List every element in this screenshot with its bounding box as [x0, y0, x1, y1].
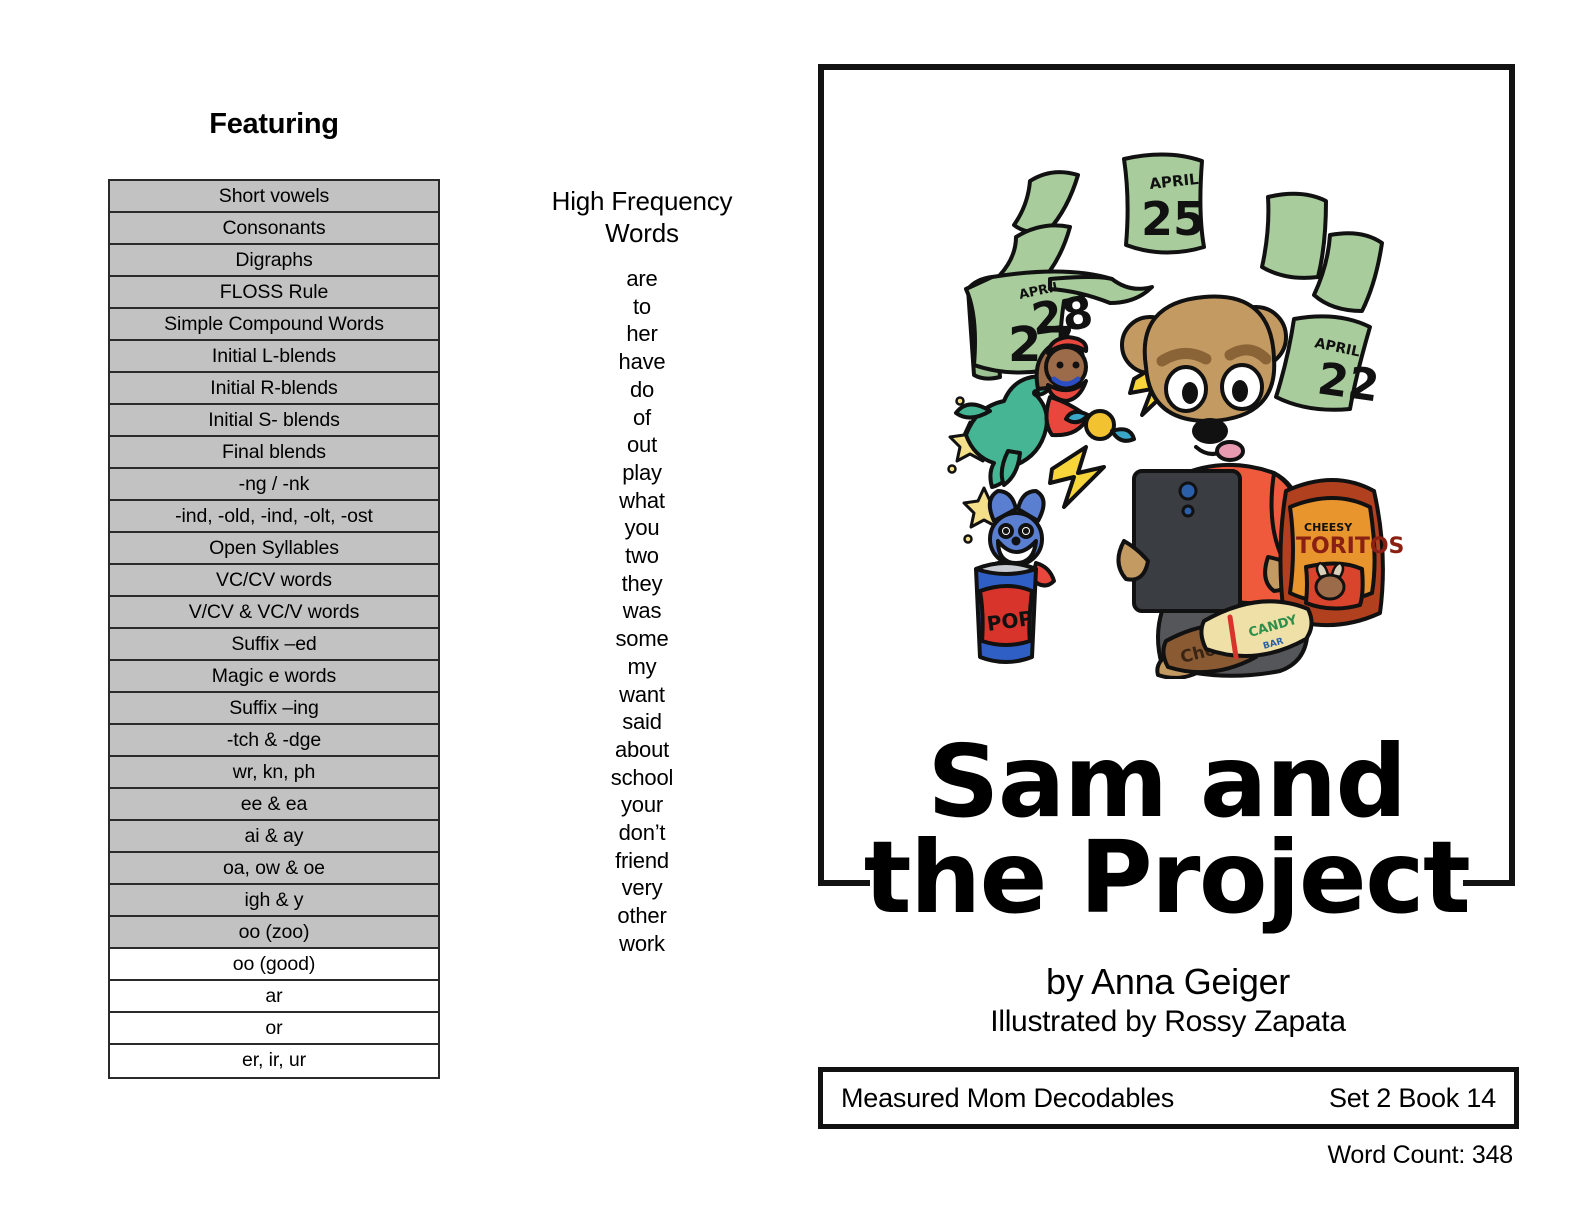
svg-text:25: 25	[1141, 192, 1205, 246]
hfw-item: said	[522, 708, 762, 736]
author-name: by Anna Geiger	[818, 960, 1518, 1003]
series-name: Measured Mom Decodables	[841, 1083, 1174, 1114]
series-number: Set 2 Book 14	[1329, 1083, 1496, 1114]
cover-title: Sam and the Project	[796, 734, 1537, 926]
skill-row: -ng / -nk	[110, 469, 438, 501]
skill-row: oo (good)	[110, 949, 438, 981]
skill-row: -tch & -dge	[110, 725, 438, 757]
hfw-item: of	[522, 404, 762, 432]
skill-row: ee & ea	[110, 789, 438, 821]
dragon-character	[956, 377, 1052, 487]
hfw-item: don’t	[522, 819, 762, 847]
series-info-box: Measured Mom Decodables Set 2 Book 14	[818, 1067, 1519, 1129]
chips-bag: CHEESY TORITOS	[1280, 480, 1404, 625]
hfw-item: have	[522, 348, 762, 376]
skill-row: oo (zoo)	[110, 917, 438, 949]
featuring-heading: Featuring	[108, 108, 440, 141]
hfw-item: out	[522, 431, 762, 459]
hfw-item: about	[522, 736, 762, 764]
hfw-item: other	[522, 902, 762, 930]
skill-row: Simple Compound Words	[110, 309, 438, 341]
cover-byline: by Anna Geiger Illustrated by Rossy Zapa…	[818, 960, 1518, 1041]
skill-row: Final blends	[110, 437, 438, 469]
skill-row: ar	[110, 981, 438, 1013]
cover-illustration: APRIL 25 APRIL 28 27 APRIL 22	[938, 139, 1408, 679]
book-cover: APRIL 25 APRIL 28 27 APRIL 22	[818, 64, 1515, 886]
hfw-item: you	[522, 514, 762, 542]
hfw-item: friend	[522, 847, 762, 875]
skill-row: oa, ow & oe	[110, 853, 438, 885]
skill-row: Consonants	[110, 213, 438, 245]
skill-row: igh & y	[110, 885, 438, 917]
calendar-page-22: APRIL 22	[1276, 316, 1382, 412]
hfw-item: what	[522, 487, 762, 515]
skill-row: Initial R-blends	[110, 373, 438, 405]
skill-row: ai & ay	[110, 821, 438, 853]
hfw-item: are	[522, 265, 762, 293]
hfw-item: do	[522, 376, 762, 404]
cover-frame-top	[818, 64, 1515, 70]
skill-row: wr, kn, ph	[110, 757, 438, 789]
skill-row: Suffix –ing	[110, 693, 438, 725]
hfw-item: school	[522, 764, 762, 792]
high-frequency-words-list: are to her have do of out play what you …	[522, 265, 762, 958]
high-frequency-words-title: High Frequency Words	[522, 185, 762, 249]
hfw-item: some	[522, 625, 762, 653]
svg-text:CHEESY: CHEESY	[1304, 521, 1353, 534]
skill-row: er, ir, ur	[110, 1045, 438, 1077]
high-frequency-words-block: High Frequency Words are to her have do …	[522, 185, 762, 958]
hfw-item: to	[522, 293, 762, 321]
skill-row: or	[110, 1013, 438, 1045]
skill-row: Initial S- blends	[110, 405, 438, 437]
skill-row: Open Syllables	[110, 533, 438, 565]
hfw-item: want	[522, 681, 762, 709]
cover-title-line-1: Sam and	[796, 734, 1537, 830]
squirrel-character	[1037, 337, 1134, 441]
soda-can: POP	[976, 563, 1036, 662]
skill-row: V/CV & VC/V words	[110, 597, 438, 629]
calendar-page-25: APRIL 25	[1124, 154, 1205, 252]
skill-row: FLOSS Rule	[110, 277, 438, 309]
skill-row: Short vowels	[110, 181, 438, 213]
illustrator-name: Illustrated by Rossy Zapata	[818, 1003, 1518, 1041]
skill-row: Suffix –ed	[110, 629, 438, 661]
skill-row: Magic e words	[110, 661, 438, 693]
hfw-item: play	[522, 459, 762, 487]
skills-table: Short vowels Consonants Digraphs FLOSS R…	[108, 179, 440, 1079]
svg-text:TORITOS: TORITOS	[1296, 534, 1404, 559]
hfw-item: was	[522, 597, 762, 625]
hfw-item: my	[522, 653, 762, 681]
hfw-item: they	[522, 570, 762, 598]
hfw-item: her	[522, 320, 762, 348]
skill-row: Digraphs	[110, 245, 438, 277]
hfw-item: two	[522, 542, 762, 570]
hfw-item: work	[522, 930, 762, 958]
word-count: Word Count: 348	[818, 1141, 1513, 1170]
cover-title-line-2: the Project	[796, 830, 1537, 926]
svg-text:22: 22	[1314, 353, 1382, 412]
skill-row: Initial L-blends	[110, 341, 438, 373]
skill-row: VC/CV words	[110, 565, 438, 597]
hfw-item: your	[522, 791, 762, 819]
skill-row: -ind, -old, -ind, -olt, -ost	[110, 501, 438, 533]
hfw-item: very	[522, 874, 762, 902]
